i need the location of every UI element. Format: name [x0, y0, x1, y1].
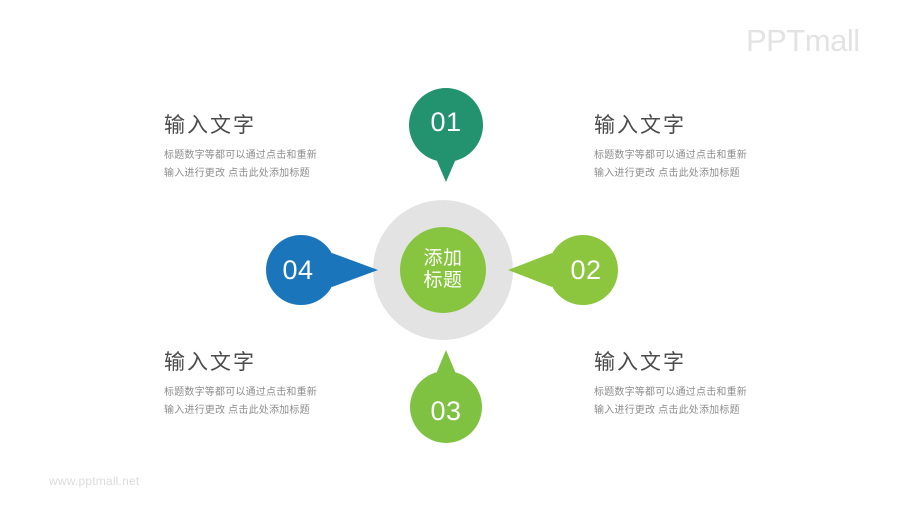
pin-02-number: 02 — [570, 255, 601, 286]
pin-01-number: 01 — [430, 107, 461, 138]
center-hub-label: 添加 标题 — [423, 248, 462, 293]
text-block-bottom-left-body: 标题数字等都可以通过点击和重新 输入进行更改 点击此处添加标题 — [164, 384, 414, 419]
text-block-top-right[interactable]: 输入文字 标题数字等都可以通过点击和重新 输入进行更改 点击此处添加标题 — [594, 113, 844, 182]
pin-02-pointer-icon — [508, 253, 552, 287]
center-hub-circle[interactable]: 添加 标题 — [400, 227, 486, 313]
footer-url: www.pptmall.net — [49, 474, 139, 488]
pin-04-number: 04 — [282, 255, 313, 286]
text-block-bottom-right[interactable]: 输入文字 标题数字等都可以通过点击和重新 输入进行更改 点击此处添加标题 — [594, 350, 844, 419]
pptmall-logo: PPTmall — [746, 25, 860, 56]
pin-02[interactable]: 02 — [548, 235, 618, 305]
pin-03-pointer-icon — [428, 350, 464, 393]
pin-01[interactable]: 01 — [409, 88, 483, 162]
text-block-bottom-left-title: 输入文字 — [164, 350, 414, 375]
text-block-top-left[interactable]: 输入文字 标题数字等都可以通过点击和重新 输入进行更改 点击此处添加标题 — [164, 113, 414, 182]
text-block-bottom-left[interactable]: 输入文字 标题数字等都可以通过点击和重新 输入进行更改 点击此处添加标题 — [164, 350, 414, 419]
text-block-top-left-title: 输入文字 — [164, 113, 414, 138]
pin-04-pointer-icon — [332, 253, 378, 287]
pin-03[interactable]: 03 — [410, 371, 482, 443]
pin-03-number: 03 — [430, 396, 461, 427]
slide-canvas: PPTmall www.pptmall.net 添加 标题 01 02 03 0… — [0, 0, 900, 506]
text-block-bottom-right-title: 输入文字 — [594, 350, 844, 375]
text-block-bottom-right-body: 标题数字等都可以通过点击和重新 输入进行更改 点击此处添加标题 — [594, 384, 844, 419]
text-block-top-right-body: 标题数字等都可以通过点击和重新 输入进行更改 点击此处添加标题 — [594, 147, 844, 182]
pin-04[interactable]: 04 — [266, 235, 336, 305]
pin-01-pointer-icon — [428, 140, 464, 182]
text-block-top-left-body: 标题数字等都可以通过点击和重新 输入进行更改 点击此处添加标题 — [164, 147, 414, 182]
text-block-top-right-title: 输入文字 — [594, 113, 844, 138]
